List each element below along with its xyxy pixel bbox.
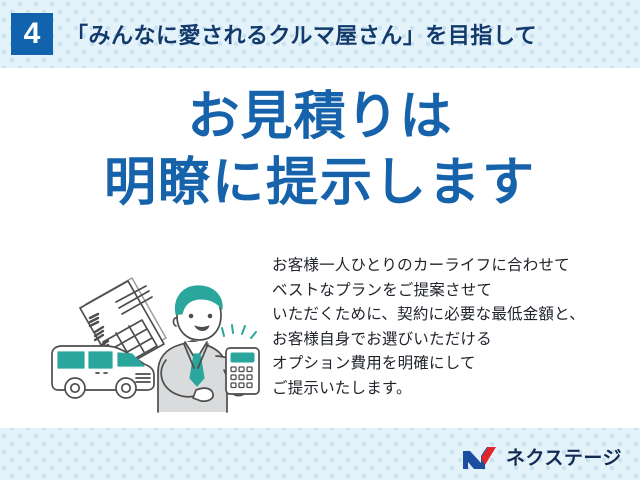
body-line-6: ご提示いたします。 — [272, 377, 622, 402]
headline-line-2: 明瞭に提示します — [0, 150, 640, 216]
headline-line-1: お見積りは — [0, 84, 640, 150]
body-line-5: オプション費用を明確にして — [272, 352, 622, 377]
content-card: お見積りは 明瞭に提示します お客様一人ひとりのカーライフに合わせて ベストなプ… — [0, 68, 640, 428]
section-number-text: 4 — [24, 19, 41, 49]
body-copy: お客様一人ひとりのカーライフに合わせて ベストなプランをご提案させて いただくた… — [272, 254, 622, 401]
body-line-3: いただくために、契約に必要な最低金額と、 — [272, 303, 622, 328]
slide-header: 4 「みんなに愛されるクルマ屋さん」を目指して — [0, 0, 640, 68]
body-line-4: お客様自身でお選びいただける — [272, 328, 622, 353]
body-line-1: お客様一人ひとりのカーライフに合わせて — [272, 254, 622, 279]
brand-logo-text: ネクステージ — [506, 449, 622, 468]
section-number-badge: 4 — [11, 13, 53, 55]
calculator-illustration — [222, 325, 259, 394]
brand-logo: ネクステージ — [461, 445, 622, 471]
nextage-n-mark-icon — [461, 445, 499, 471]
slide-root: 4 「みんなに愛されるクルマ屋さん」を目指して お見積りは 明瞭に提示します お… — [0, 0, 640, 480]
header-title: 「みんなに愛されるクルマ屋さん」を目指して — [66, 18, 537, 50]
body-line-2: ベストなプランをご提案させて — [272, 279, 622, 304]
illustration — [40, 256, 270, 416]
headline-block: お見積りは 明瞭に提示します — [0, 84, 640, 216]
